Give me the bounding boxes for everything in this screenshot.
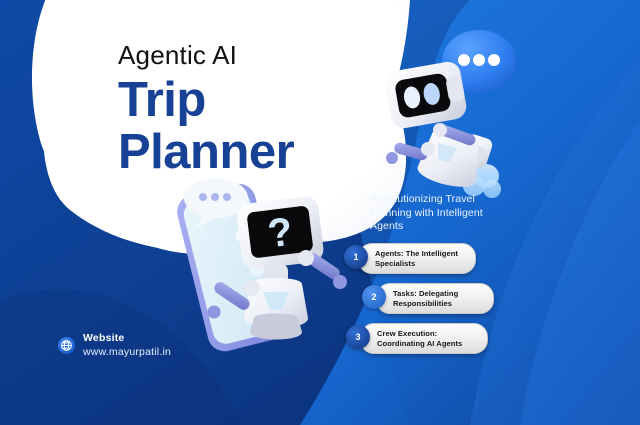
step-pill-1[interactable]: Agents: The Intelligent Specialists (358, 243, 476, 274)
list-item[interactable]: 1 Agents: The Intelligent Specialists (344, 243, 544, 283)
step-label-2: Tasks: Delegating Responsibilities (393, 289, 485, 308)
list-item[interactable]: 3 Crew Execution: Coordinating AI Agents (346, 323, 544, 363)
website-block[interactable]: Website www.mayurpatil.in (58, 332, 171, 359)
title-line-2: Planner (118, 126, 418, 178)
step-badge-3: 3 (346, 325, 370, 349)
step-pill-2[interactable]: Tasks: Delegating Responsibilities (376, 283, 494, 314)
step-label-1: Agents: The Intelligent Specialists (375, 249, 467, 268)
website-url[interactable]: www.mayurpatil.in (83, 345, 171, 359)
title-line-1: Trip (118, 73, 206, 127)
step-pill-3[interactable]: Crew Execution: Coordinating AI Agents (360, 323, 488, 354)
eyebrow-text: Agentic AI (118, 40, 418, 70)
steps-list: 1 Agents: The Intelligent Specialists 2 … (344, 243, 544, 363)
subtitle-text: Revolutionizing Travel Planning with Int… (370, 193, 498, 234)
robot-question-right-arm (298, 250, 347, 289)
headline-block: Agentic AI Trip Planner (118, 40, 418, 178)
page-title: Trip Planner (118, 74, 418, 178)
step-badge-1: 1 (344, 245, 368, 269)
step-badge-2: 2 (362, 285, 386, 309)
step-label-3: Crew Execution: Coordinating AI Agents (377, 329, 479, 348)
website-text: Website www.mayurpatil.in (83, 332, 171, 359)
website-label: Website (83, 332, 171, 345)
globe-icon (58, 337, 75, 354)
list-item[interactable]: 2 Tasks: Delegating Responsibilities (362, 283, 544, 323)
robot-with-question-screen-illustration: ? (168, 178, 348, 358)
poster-canvas: ? Agentic AI (0, 0, 640, 425)
